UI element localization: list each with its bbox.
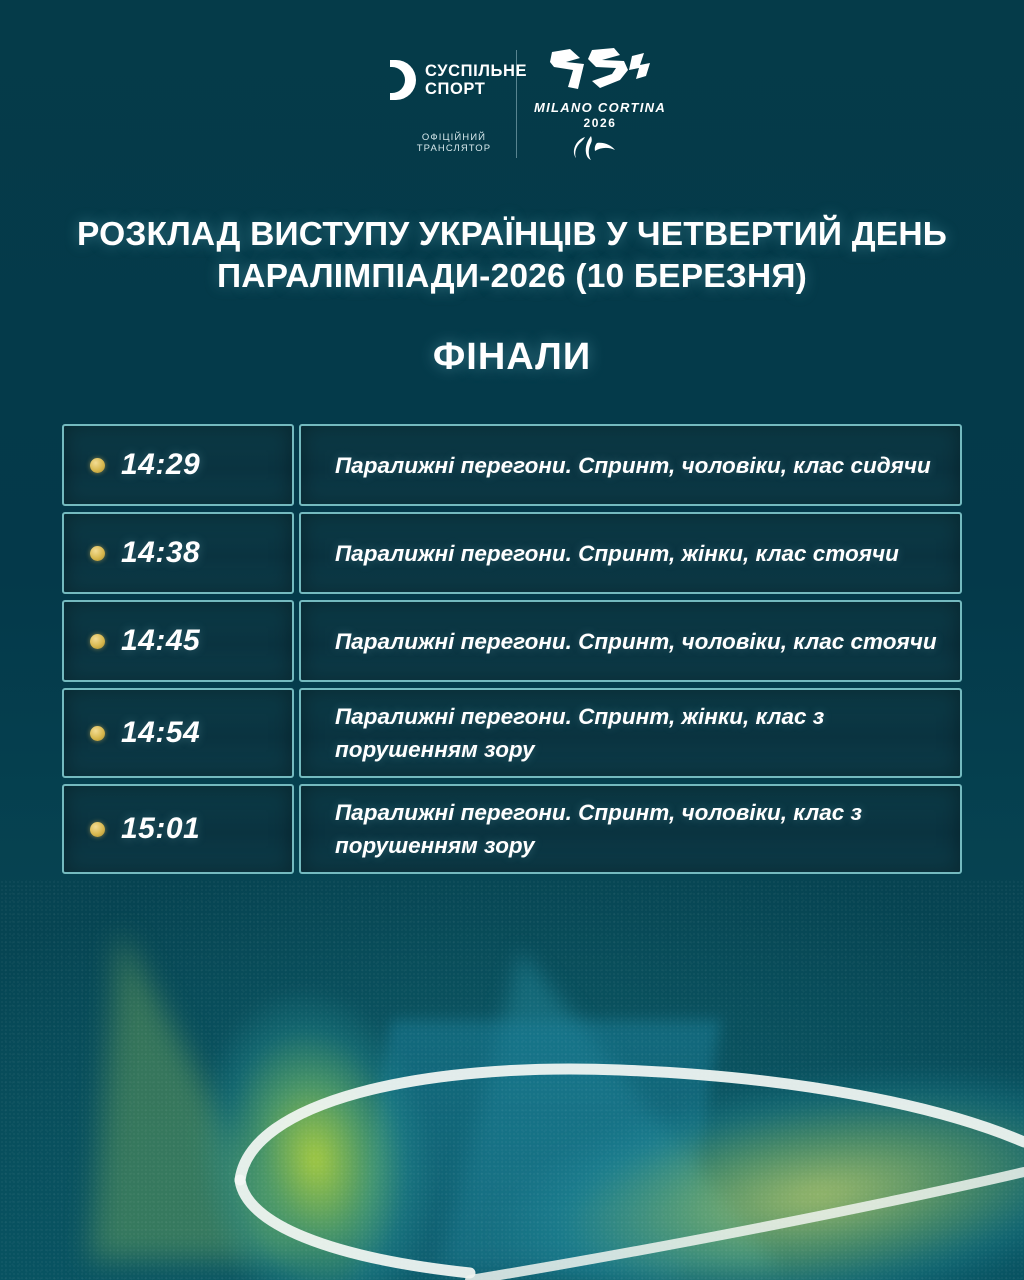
event-cell: Паралижні перегони. Спринт, чоловіки, кл… (299, 424, 962, 506)
grain-texture (0, 880, 1024, 1280)
gold-medal-dot-icon (90, 546, 105, 561)
event-cell: Паралижні перегони. Спринт, жінки, клас … (299, 688, 962, 778)
event-description: Паралижні перегони. Спринт, жінки, клас … (335, 537, 899, 570)
suspilne-sport-logo: СУСПІЛЬНЕ СПОРТ (390, 60, 527, 100)
table-row: 14:45 Паралижні перегони. Спринт, чолові… (62, 600, 962, 682)
gold-medal-dot-icon (90, 822, 105, 837)
event-time: 14:29 (121, 448, 200, 482)
section-subtitle: ФІНАЛИ (52, 336, 972, 379)
event-cell: Паралижні перегони. Спринт, жінки, клас … (299, 512, 962, 594)
suspilne-label: СУСПІЛЬНЕ (425, 62, 527, 80)
event-time: 14:54 (121, 716, 200, 750)
crescent-icon (390, 60, 416, 100)
sport-label: СПОРТ (425, 80, 527, 98)
table-row: 14:54 Паралижні перегони. Спринт, жінки,… (62, 688, 962, 778)
decorative-artwork (0, 880, 1024, 1280)
event-time: 15:01 (121, 812, 200, 846)
poster-header: СУСПІЛЬНЕ СПОРТ ОФІЦІЙНИЙ ТРАНСЛЯТОР MIL… (0, 46, 1024, 166)
milano-cortina-name: MILANO CORTINA (530, 100, 670, 115)
suspilne-sport-wordmark: СУСПІЛЬНЕ СПОРТ (425, 62, 527, 98)
event-description: Паралижні перегони. Спринт, жінки, клас … (335, 700, 938, 766)
table-row: 15:01 Паралижні перегони. Спринт, чолові… (62, 784, 962, 874)
event-cell: Паралижні перегони. Спринт, чоловіки, кл… (299, 600, 962, 682)
event-description: Паралижні перегони. Спринт, чоловіки, кл… (335, 796, 938, 862)
games-year: 2026 (530, 116, 670, 130)
official-broadcaster-caption: ОФІЦІЙНИЙ ТРАНСЛЯТОР (389, 132, 519, 154)
logo-divider (516, 50, 517, 158)
event-time: 14:45 (121, 624, 200, 658)
time-cell: 14:38 (62, 512, 294, 594)
time-cell: 15:01 (62, 784, 294, 874)
gold-medal-dot-icon (90, 726, 105, 741)
milano-cortina-logo: MILANO CORTINA 2026 (530, 46, 670, 166)
milano-cortina-26-mark (540, 46, 660, 92)
time-cell: 14:29 (62, 424, 294, 506)
time-cell: 14:45 (62, 600, 294, 682)
schedule-list: 14:29 Паралижні перегони. Спринт, чолові… (62, 424, 962, 880)
gold-medal-dot-icon (90, 634, 105, 649)
table-row: 14:38 Паралижні перегони. Спринт, жінки,… (62, 512, 962, 594)
time-cell: 14:54 (62, 688, 294, 778)
event-time: 14:38 (121, 536, 200, 570)
event-description: Паралижні перегони. Спринт, чоловіки, кл… (335, 625, 937, 658)
table-row: 14:29 Паралижні перегони. Спринт, чолові… (62, 424, 962, 506)
event-description: Паралижні перегони. Спринт, чоловіки, кл… (335, 449, 931, 482)
schedule-poster: СУСПІЛЬНЕ СПОРТ ОФІЦІЙНИЙ ТРАНСЛЯТОР MIL… (0, 0, 1024, 1280)
gold-medal-dot-icon (90, 458, 105, 473)
event-cell: Паралижні перегони. Спринт, чоловіки, кл… (299, 784, 962, 874)
page-title: РОЗКЛАД ВИСТУПУ УКРАЇНЦІВ У ЧЕТВЕРТИЙ ДЕ… (52, 214, 972, 298)
paralympic-agitos-icon (565, 135, 635, 161)
